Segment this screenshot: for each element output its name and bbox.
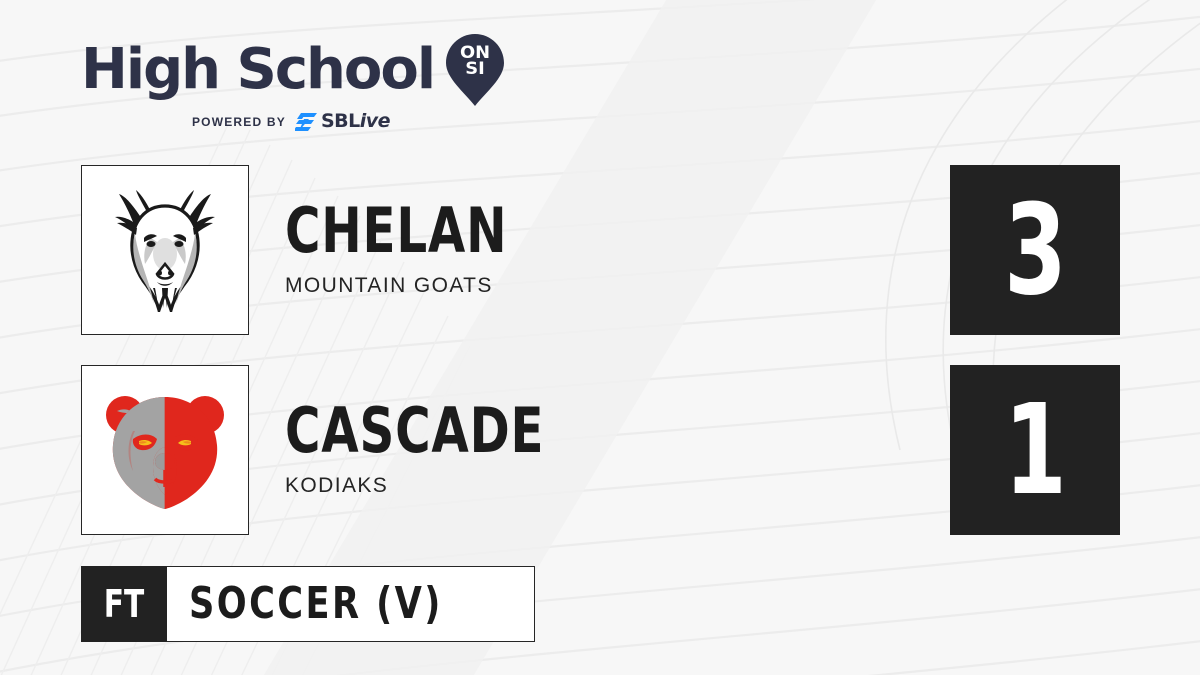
game-period-label: FT	[104, 585, 144, 623]
wordmark-text: High School	[81, 42, 434, 98]
sblive-wordmark: SBLive	[321, 112, 390, 131]
game-period-badge: FT	[81, 566, 167, 642]
team-name: CASCADE	[285, 402, 544, 459]
team-score-box: 1	[950, 365, 1120, 535]
team-mascot: KODIAKS	[285, 474, 617, 498]
sblive-bolt-icon	[295, 113, 317, 131]
team-row: CASCADE KODIAKS	[81, 365, 617, 535]
powered-by-label: POWERED BY	[192, 115, 286, 129]
on-si-pin-icon: ON SI	[446, 34, 504, 106]
sblive-italic: ive	[360, 110, 390, 132]
pin-line-si: SI	[445, 61, 506, 77]
game-sport-panel: SOCCER (V)	[167, 566, 535, 642]
sblive-bold: SBL	[321, 110, 360, 132]
bear-head-icon	[103, 391, 227, 509]
powered-by-row: POWERED BY SBLive	[81, 112, 501, 131]
team-score: 3	[1004, 188, 1067, 313]
team-score-box: 3	[950, 165, 1120, 335]
team-name: CHELAN	[285, 202, 507, 259]
team-info: CHELAN MOUNTAIN GOATS	[285, 202, 570, 297]
game-status-bar: FT SOCCER (V)	[81, 566, 535, 642]
team-mascot: MOUNTAIN GOATS	[285, 274, 570, 298]
mountain-goat-head-icon	[107, 188, 223, 312]
on-si-pin-label: ON SI	[446, 45, 504, 77]
wordmark-row: High School ON SI	[81, 34, 504, 106]
team-logo-box	[81, 365, 249, 535]
team-info: CASCADE KODIAKS	[285, 402, 617, 497]
team-row: CHELAN MOUNTAIN GOATS	[81, 165, 570, 335]
site-logo: High School ON SI POWERED BY SBLive	[81, 34, 504, 131]
team-score: 1	[1004, 388, 1067, 513]
game-sport-label: SOCCER (V)	[189, 582, 443, 626]
team-logo-box	[81, 165, 249, 335]
